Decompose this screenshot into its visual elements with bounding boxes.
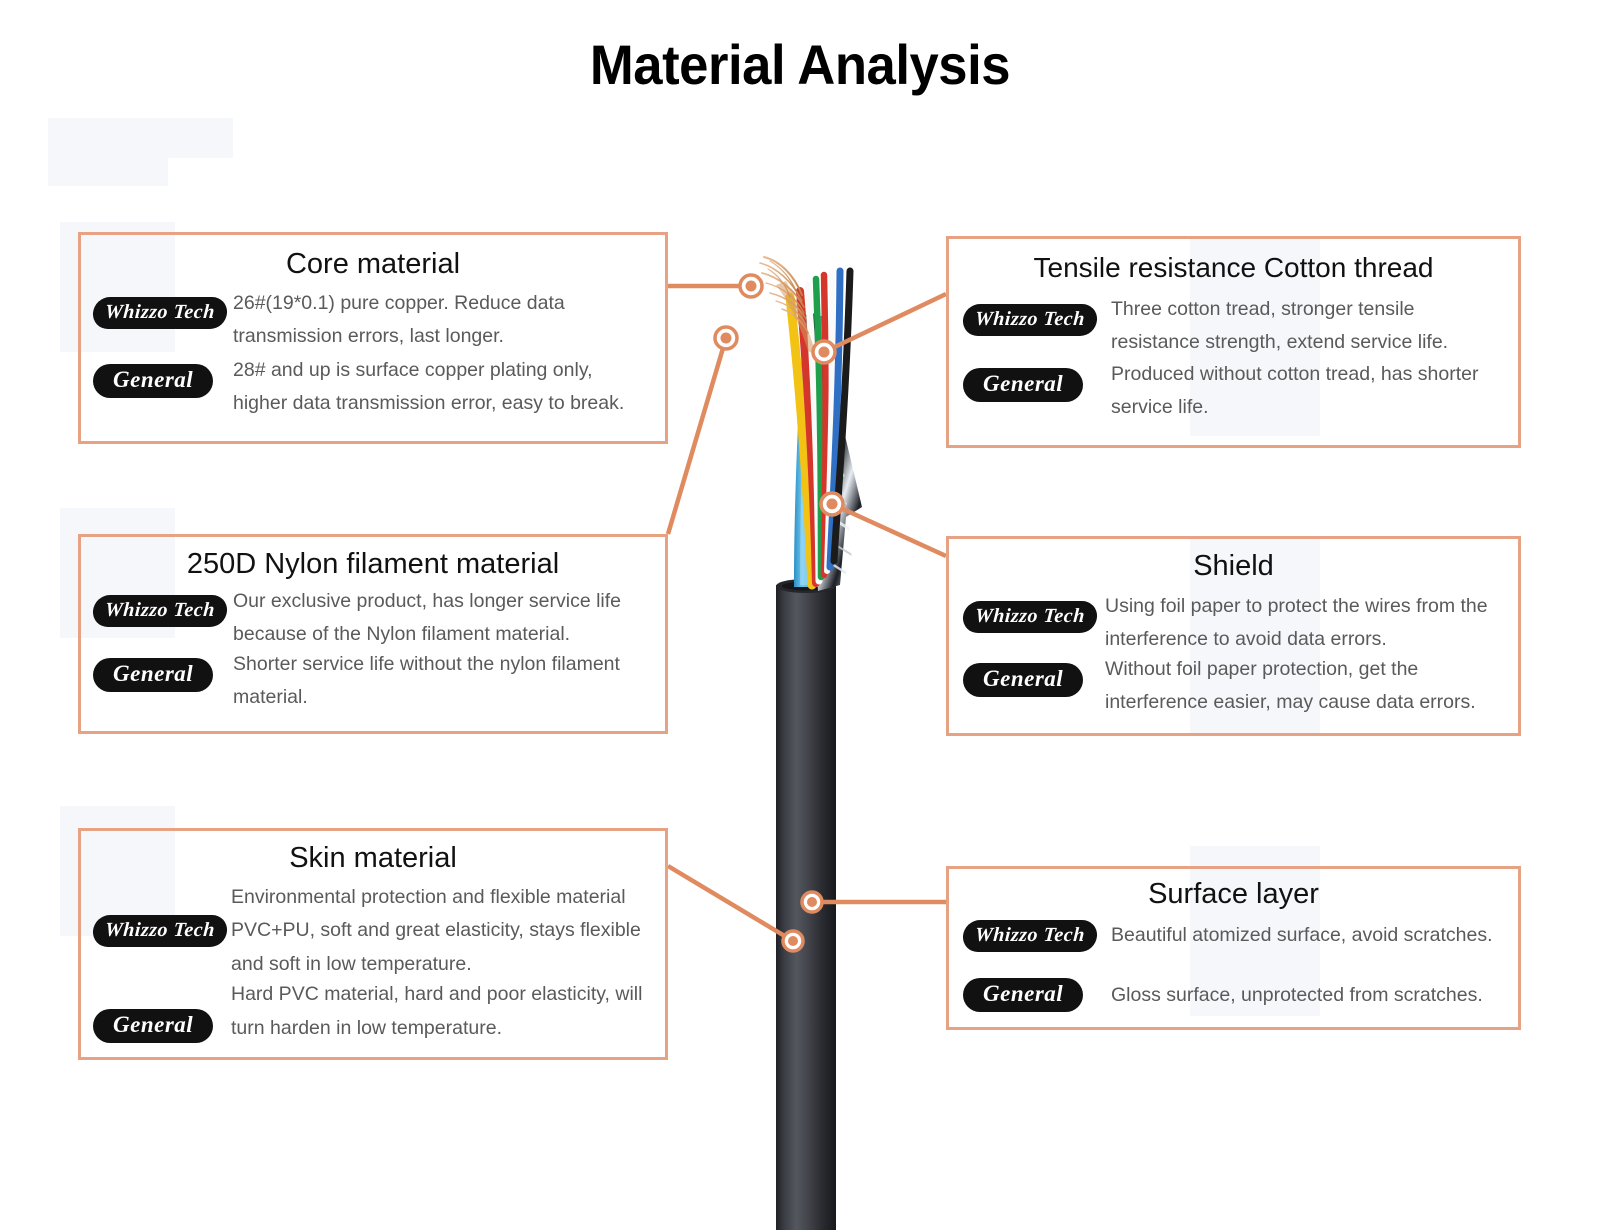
box-nylon-filament[interactable]: 250D Nylon filament material Whizzo Tech… <box>78 534 668 734</box>
desc-generic-shield: Without foil paper protection, get the i… <box>1105 653 1506 720</box>
box-core-material[interactable]: Core material Whizzo Tech 26#(19*0.1) pu… <box>78 232 668 444</box>
connector-markers <box>715 275 843 951</box>
badge-cell: Whizzo Tech <box>93 885 231 947</box>
desc-generic-core-material: 28# and up is surface copper plating onl… <box>233 354 651 421</box>
row-premium-cotton-thread: Whizzo Tech Three cotton tread, stronger… <box>949 298 1518 360</box>
desc-premium-nylon-filament: Our exclusive product, has longer servic… <box>233 585 653 652</box>
brand-badge-whizzo-tech: Whizzo Tech <box>962 304 1098 336</box>
marker-cotton-thread <box>813 341 835 363</box>
badge-cell: Whizzo Tech <box>963 298 1111 336</box>
brand-badge-general: General <box>963 663 1083 697</box>
badge-cell: General <box>963 364 1111 402</box>
desc-premium-cotton-thread: Three cotton tread, stronger tensile res… <box>1111 293 1506 360</box>
badge-cell: Whizzo Tech <box>963 920 1111 952</box>
brand-badge-general: General <box>93 658 213 692</box>
badge-cell: General <box>93 983 231 1043</box>
row-generic-nylon-filament: General Shorter service life without the… <box>81 652 665 715</box>
box-shield[interactable]: Shield Whizzo Tech Using foil paper to p… <box>946 536 1521 736</box>
badge-cell: General <box>93 654 233 692</box>
row-generic-surface-layer: General Gloss surface, unprotected from … <box>949 952 1518 1012</box>
row-generic-shield: General Without foil paper protection, g… <box>949 657 1518 720</box>
badge-cell: General <box>963 978 1111 1012</box>
desc-generic-skin-material: Hard PVC material, hard and poor elastic… <box>231 978 659 1045</box>
desc-premium-skin-material: Environmental protection and flexible ma… <box>231 881 659 982</box>
brand-badge-general: General <box>93 364 213 398</box>
badge-cell: General <box>93 358 233 398</box>
marker-shield <box>821 493 843 515</box>
marker-nylon-filament <box>715 327 737 349</box>
brand-badge-whizzo-tech: Whizzo Tech <box>92 915 228 947</box>
connector-nylon-filament <box>668 338 726 534</box>
connector-skin-material <box>668 866 793 941</box>
box-title-nylon-filament: 250D Nylon filament material <box>81 549 665 581</box>
marker-surface-layer <box>802 892 822 912</box>
desc-premium-surface-layer: Beautiful atomized surface, avoid scratc… <box>1111 919 1508 953</box>
desc-premium-shield: Using foil paper to protect the wires fr… <box>1105 590 1506 657</box>
marker-core-material <box>740 275 762 297</box>
infographic-canvas: Material Analysis <box>0 0 1600 1230</box>
row-generic-core-material: General 28# and up is surface copper pla… <box>81 354 665 421</box>
box-title-core-material: Core material <box>81 249 665 281</box>
box-title-skin-material: Skin material <box>81 843 665 875</box>
row-premium-surface-layer: Whizzo Tech Beautiful atomized surface, … <box>949 919 1518 953</box>
brand-badge-whizzo-tech: Whizzo Tech <box>92 595 228 627</box>
row-generic-skin-material: General Hard PVC material, hard and poor… <box>81 981 665 1045</box>
brand-badge-general: General <box>963 978 1083 1012</box>
marker-skin-material <box>783 931 803 951</box>
box-surface-layer[interactable]: Surface layer Whizzo Tech Beautiful atom… <box>946 866 1521 1030</box>
badge-cell: Whizzo Tech <box>93 589 233 627</box>
row-premium-skin-material: Whizzo Tech Environmental protection and… <box>81 885 665 982</box>
desc-generic-cotton-thread: Produced without cotton tread, has short… <box>1111 358 1506 425</box>
desc-generic-surface-layer: Gloss surface, unprotected from scratche… <box>1111 979 1508 1013</box>
box-title-shield: Shield <box>949 551 1518 583</box>
brand-badge-whizzo-tech: Whizzo Tech <box>962 601 1098 633</box>
box-skin-material[interactable]: Skin material Whizzo Tech Environmental … <box>78 828 668 1060</box>
badge-cell: Whizzo Tech <box>963 595 1105 633</box>
row-premium-core-material: Whizzo Tech 26#(19*0.1) pure copper. Red… <box>81 291 665 354</box>
desc-premium-core-material: 26#(19*0.1) pure copper. Reduce data tra… <box>233 287 651 354</box>
box-title-surface-layer: Surface layer <box>949 879 1518 911</box>
brand-badge-general: General <box>963 368 1083 402</box>
desc-generic-nylon-filament: Shorter service life without the nylon f… <box>233 648 653 715</box>
brand-badge-whizzo-tech: Whizzo Tech <box>962 920 1098 952</box>
connector-cotton-thread <box>824 294 946 352</box>
box-cotton-thread[interactable]: Tensile resistance Cotton thread Whizzo … <box>946 236 1521 448</box>
row-generic-cotton-thread: General Produced without cotton tread, h… <box>949 360 1518 425</box>
brand-badge-general: General <box>93 1009 213 1043</box>
row-premium-shield: Whizzo Tech Using foil paper to protect … <box>949 595 1518 657</box>
brand-badge-whizzo-tech: Whizzo Tech <box>92 297 228 329</box>
badge-cell: Whizzo Tech <box>93 291 233 329</box>
box-title-cotton-thread: Tensile resistance Cotton thread <box>949 253 1518 284</box>
row-premium-nylon-filament: Whizzo Tech Our exclusive product, has l… <box>81 589 665 652</box>
badge-cell: General <box>963 659 1105 697</box>
connector-shield <box>832 504 946 556</box>
